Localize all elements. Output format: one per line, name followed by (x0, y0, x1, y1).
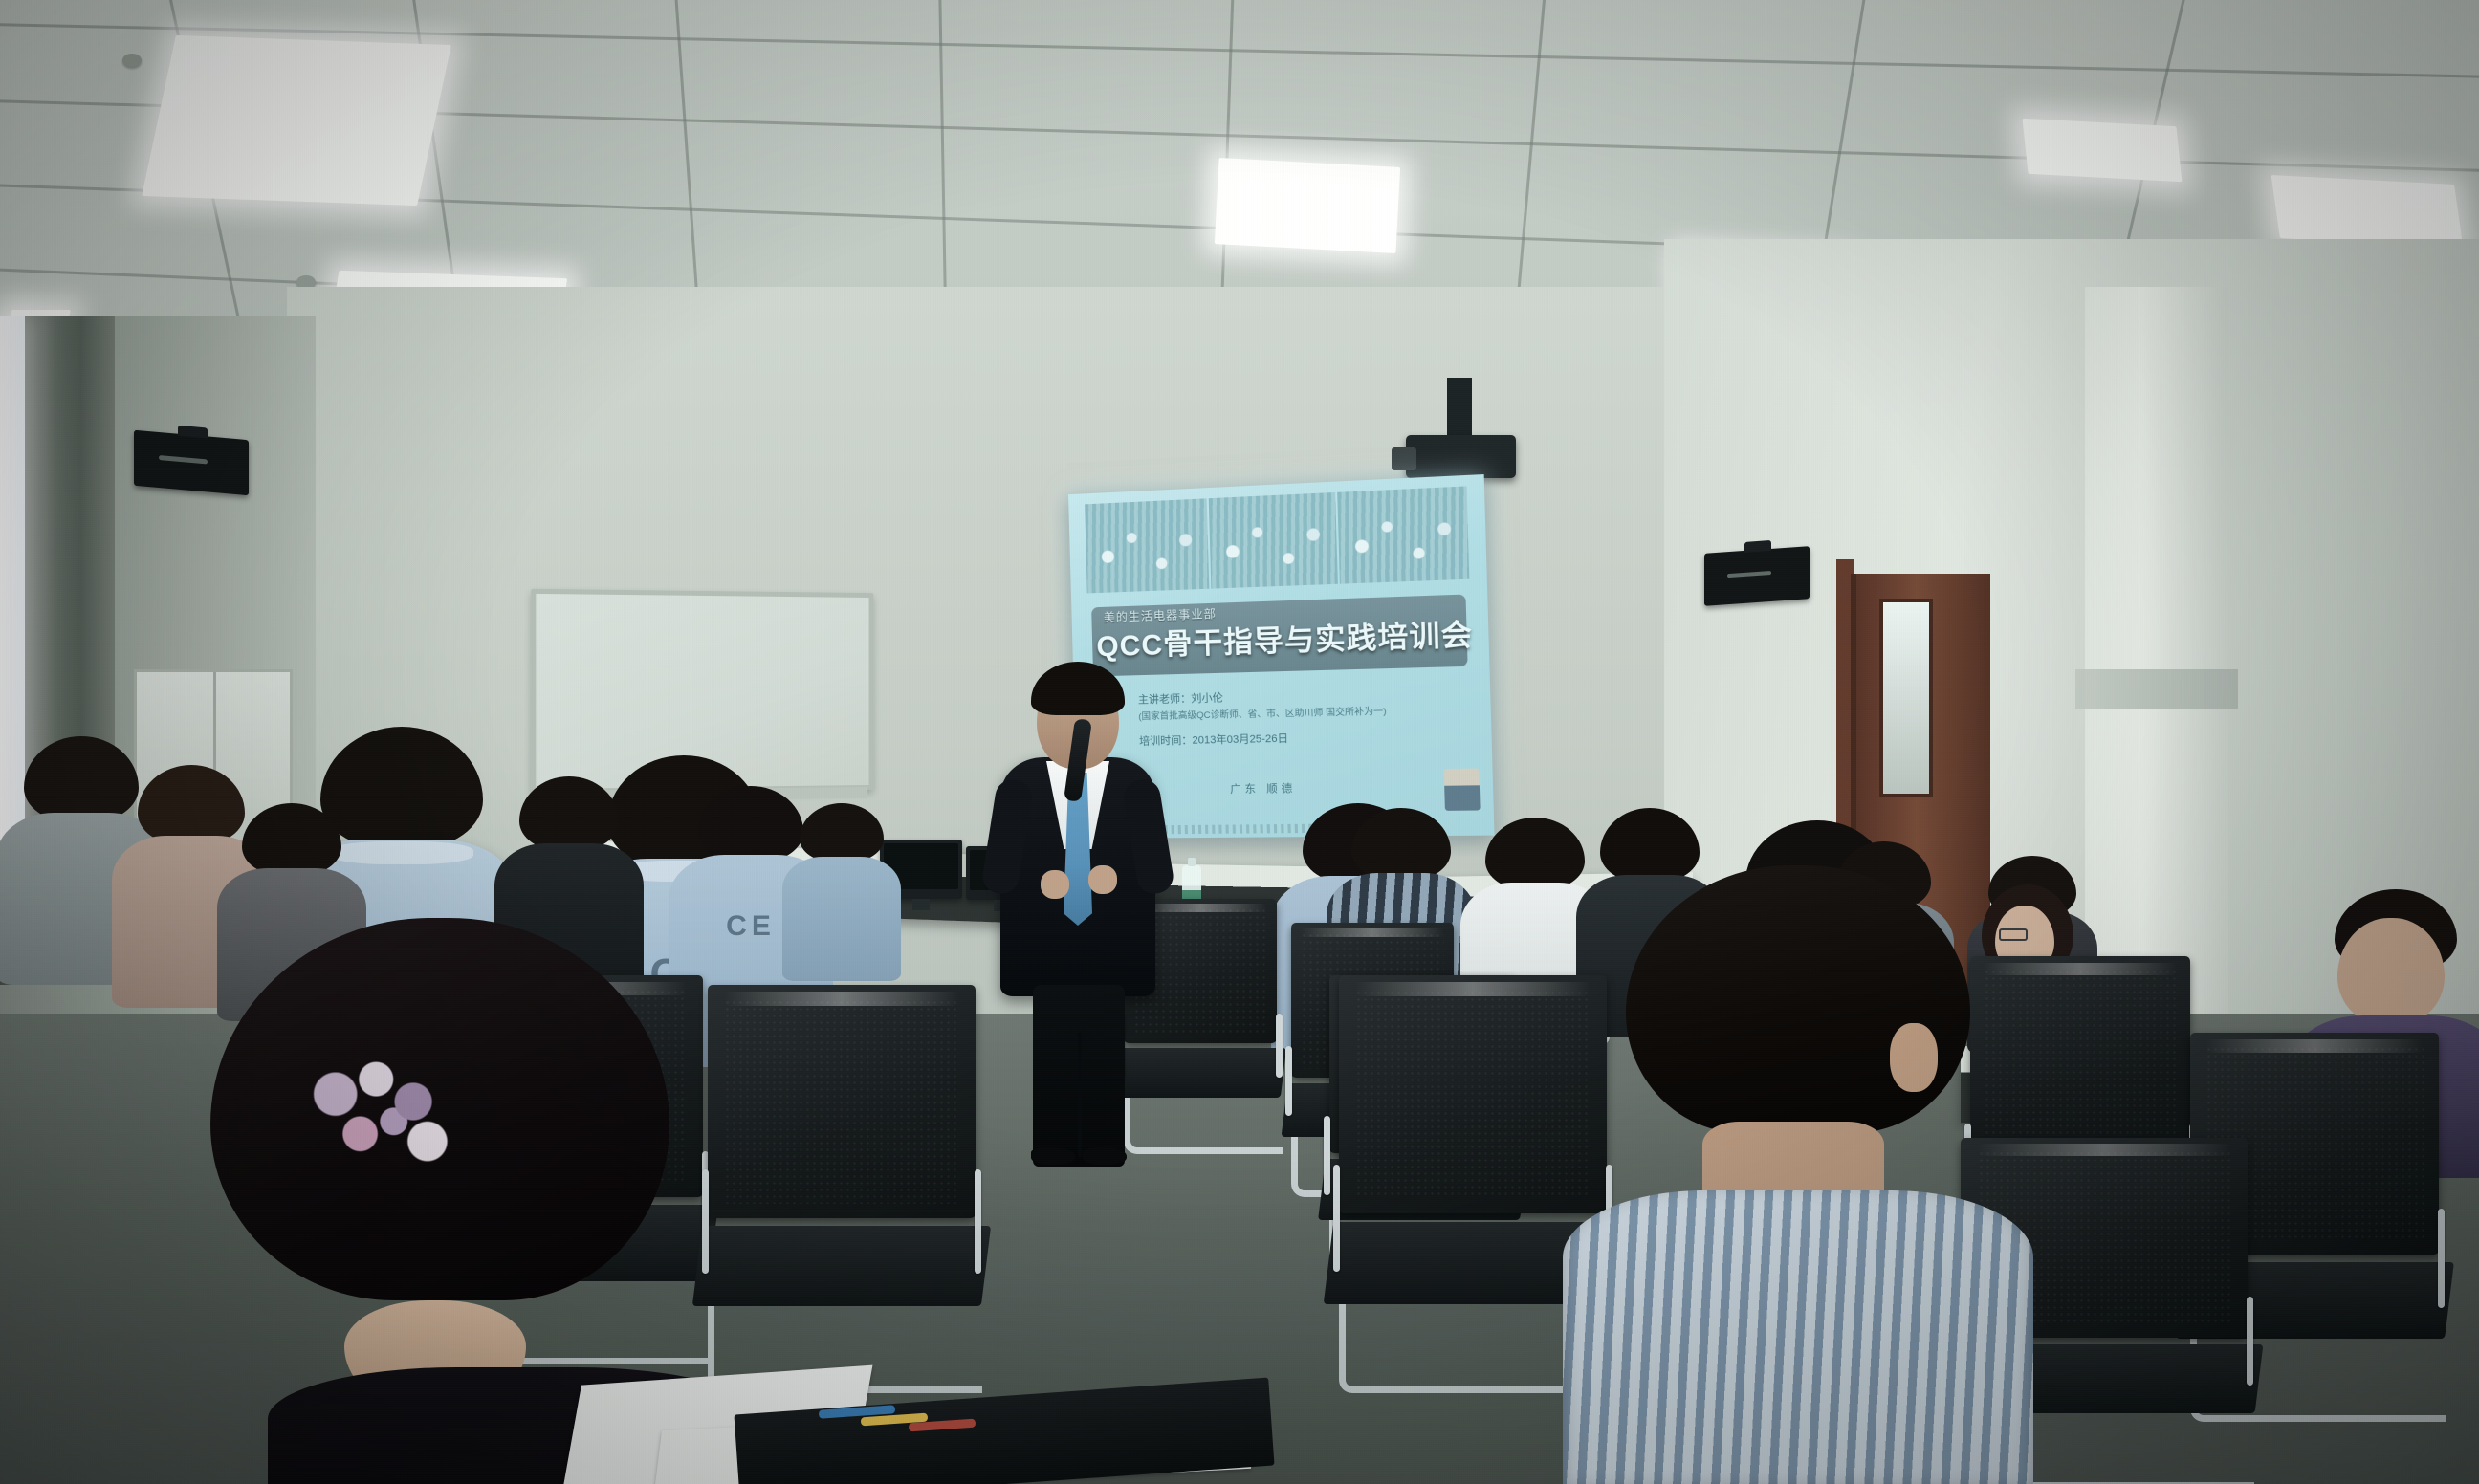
monitor-stand (912, 899, 929, 910)
chair-arm (2247, 1297, 2253, 1386)
uniform-ce-text: CE (726, 910, 776, 943)
ceiling-panel-light (142, 35, 451, 206)
wall-speaker-right (1704, 546, 1810, 606)
ceiling-panel-light (1215, 158, 1400, 253)
projector-mount-arm (1447, 378, 1472, 440)
head (2337, 918, 2445, 1025)
slide-detail-line: 培训时间：2013年03月25-26日 (1139, 727, 1475, 750)
hair (1351, 808, 1451, 881)
door-glass-panel (1879, 599, 1933, 797)
chair-arm (702, 1169, 709, 1274)
slide-photo (1337, 486, 1470, 584)
presenter-shoe (1083, 1147, 1127, 1165)
chair-arm (1324, 1116, 1330, 1195)
ear (1890, 1023, 1938, 1092)
chair-arm (1276, 1014, 1283, 1079)
foreground-woman (0, 918, 641, 1484)
presenter-shoe (1031, 1147, 1075, 1165)
presenter-hand (1088, 865, 1117, 894)
hair (800, 803, 884, 862)
speaker-mount-bracket (178, 425, 208, 438)
ceiling-panel-light (2023, 119, 2183, 182)
chair-arm (1285, 1046, 1292, 1116)
speaker-mount-bracket (1744, 540, 1772, 553)
ceiling-panel-light (2271, 175, 2464, 248)
slide-detail-block: 主讲老师：刘小伦 (国家首批高级QC诊断师、省、市、区助川师 国交所补为一) 培… (1138, 684, 1475, 752)
torso (782, 857, 901, 981)
speaker-slot (159, 455, 207, 464)
chair-arm (975, 1169, 981, 1274)
hair-flower-clip (296, 1052, 473, 1176)
hair (519, 776, 619, 851)
chair-arm (2438, 1209, 2445, 1308)
hair (242, 803, 341, 876)
presenter-hand (1041, 870, 1069, 899)
presenter (987, 669, 1169, 1167)
chair-back (708, 985, 976, 1218)
chair-seat (692, 1226, 992, 1306)
chair-back (1339, 975, 1607, 1213)
audience-member (784, 803, 899, 975)
meeting-chair[interactable] (708, 985, 976, 1386)
slide-photo (1209, 492, 1338, 589)
chair-arm (1333, 1165, 1340, 1272)
speaker-slot (1727, 571, 1771, 578)
slide-location: 广东 顺德 (1230, 780, 1297, 797)
slide-photo-strip (1085, 486, 1470, 594)
smoke-detector (122, 54, 142, 67)
foreground-man (1569, 865, 2028, 1484)
striped-shirt (1563, 1190, 2033, 1484)
slide-speaker-photo (1444, 768, 1481, 810)
slide-photo (1085, 498, 1210, 594)
photograph-scene: 美的生活电器事业部 QCC骨干指导与实践培训会 主讲老师：刘小伦 (国家首批高级… (0, 0, 2479, 1484)
pillar-tape-marker (2075, 669, 2238, 709)
hair (1626, 865, 1970, 1133)
wall-speaker-left (134, 430, 249, 495)
ceiling-projector (1406, 435, 1516, 478)
trouser-seam (1078, 1033, 1082, 1157)
presenter-hair (1031, 662, 1125, 715)
projector-lens (1392, 447, 1416, 470)
